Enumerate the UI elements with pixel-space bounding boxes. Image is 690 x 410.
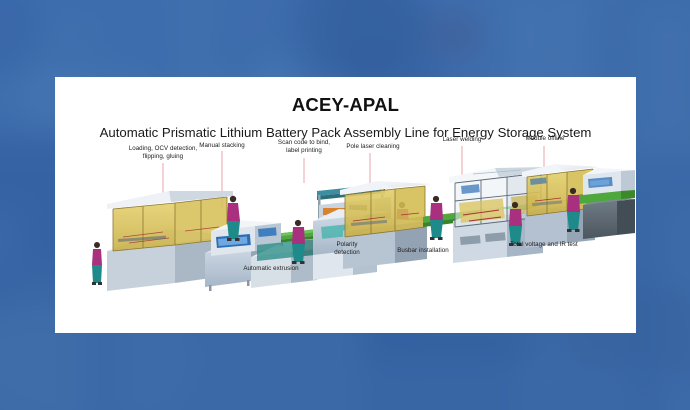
label-total-voltage-ir-test: Total voltage and IR test [510,241,578,249]
label-manual-stacking: Manual stacking [199,142,244,150]
label-module-offline: Module offline [525,135,564,143]
label-pole-laser-cleaning: Pole laser cleaning [346,143,399,151]
label-loading: Loading, OCV detection, flipping, gluing [129,145,198,160]
worker-figure [92,242,102,285]
label-automatic-extrusion: Automatic extrusion [243,265,298,273]
label-scan-code: Scan code to bind, label printing [278,139,330,154]
station-voltage-ir-test [579,168,635,239]
label-polarity-detection: Polarity detection [334,241,360,256]
page-title: ACEY-APAL [55,94,636,116]
assembly-line-diagram: Loading, OCV detection, flipping, gluing… [55,139,636,333]
station-automatic-extrusion [251,239,317,288]
worker-figure [430,196,443,240]
assembly-line-illustration [55,139,636,333]
content-card: ACEY-APAL Automatic Prismatic Lithium Ba… [55,77,636,333]
label-laser-welding: Laser welding [443,136,482,144]
worker-figure [227,196,240,241]
worker-figure [292,220,305,264]
label-busbar-installation: Busbar installation [397,247,449,255]
